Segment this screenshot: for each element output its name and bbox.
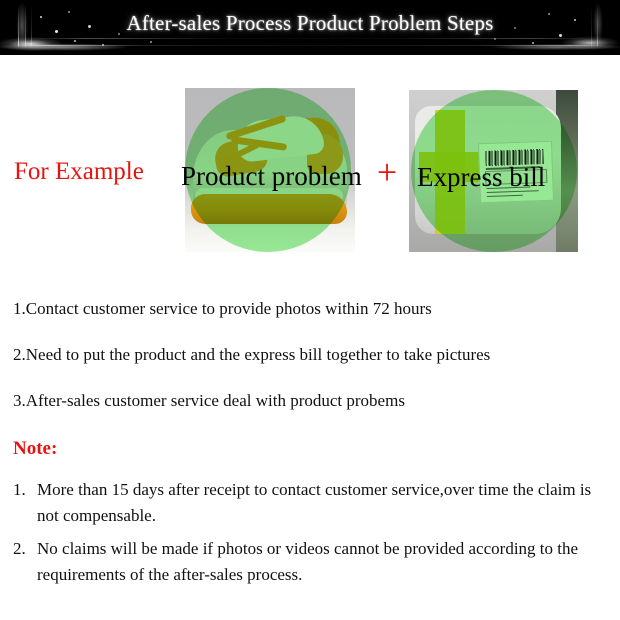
steps-list: 1.Contact customer service to provide ph… <box>13 299 613 437</box>
note-item: 1. More than 15 days after receipt to co… <box>13 477 613 529</box>
page-title: After-sales Process Product Problem Step… <box>0 11 620 36</box>
express-bill-caption: Express bill <box>417 162 545 193</box>
note-list: 1. More than 15 days after receipt to co… <box>13 477 613 595</box>
banner-light-streak-horizontal <box>30 38 590 39</box>
note-item-marker: 2. <box>13 536 26 562</box>
note-heading: Note: <box>13 438 57 460</box>
note-item-marker: 1. <box>13 477 26 503</box>
sparkle-icon <box>74 40 76 42</box>
note-item: 2. No claims will be made if photos or v… <box>13 536 613 588</box>
sparkle-icon <box>532 42 534 44</box>
for-example-label: For Example <box>14 158 144 186</box>
sparkle-icon <box>102 44 104 46</box>
note-item-text: More than 15 days after receipt to conta… <box>37 480 591 525</box>
product-problem-caption: Product problem <box>181 161 362 192</box>
step-item: 3.After-sales customer service deal with… <box>13 391 613 410</box>
sparkle-icon <box>150 41 152 43</box>
sparkle-icon <box>494 38 496 40</box>
note-item-text: No claims will be made if photos or vide… <box>37 539 578 584</box>
example-section: For Example Product problem Ex <box>0 55 620 275</box>
plus-icon: + <box>372 155 402 189</box>
step-item: 1.Contact customer service to provide ph… <box>13 299 613 318</box>
page-header-banner: After-sales Process Product Problem Step… <box>0 0 620 55</box>
step-item: 2.Need to put the product and the expres… <box>13 345 613 364</box>
